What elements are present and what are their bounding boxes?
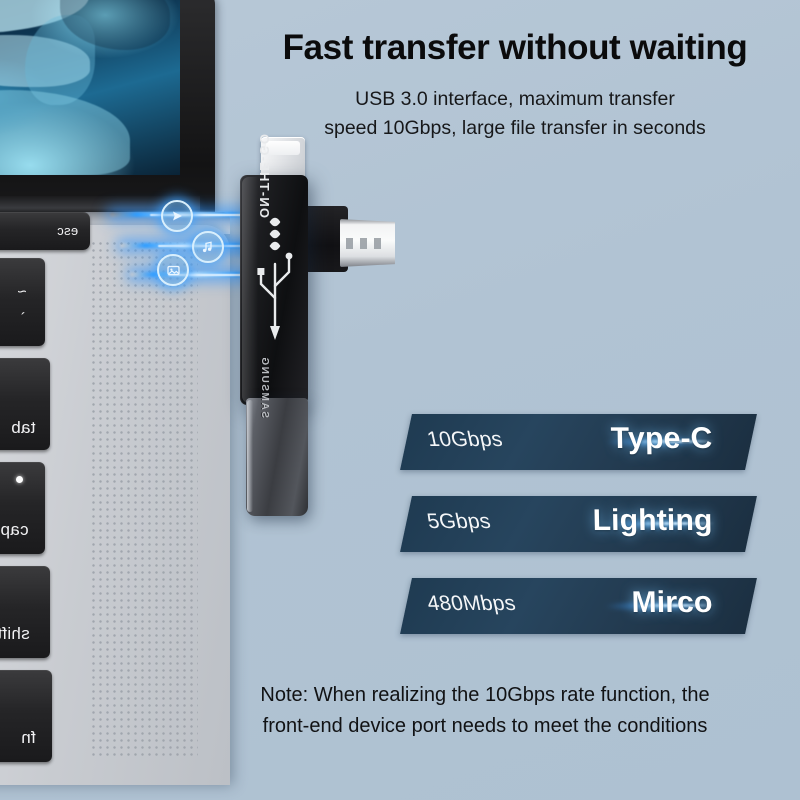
speed-badge-list: 10Gbps Type-C 5Gbps Lighting 480Mbps Mir… bbox=[406, 414, 766, 660]
port-type-label: Mirco bbox=[628, 586, 716, 620]
footnote: Note: When realizing the 10Gbps rate fun… bbox=[0, 680, 800, 742]
key-tab[interactable]: tab bbox=[0, 358, 50, 450]
speed-badge-content: 10Gbps Type-C bbox=[400, 414, 757, 470]
photo-icon bbox=[157, 254, 189, 286]
speed-badge-row: 5Gbps Lighting bbox=[406, 496, 766, 578]
usb-trident-icon bbox=[250, 205, 300, 350]
usb-c-highlight bbox=[247, 400, 253, 512]
subtitle-line-1: USB 3.0 interface, maximum transfer bbox=[230, 85, 800, 114]
adapter-otg-label: ON-THE-GO bbox=[257, 133, 272, 218]
key-caps-lock-label: caps lock bbox=[0, 520, 29, 540]
page-title: Fast transfer without waiting bbox=[0, 28, 800, 68]
speed-value: 5Gbps bbox=[425, 510, 493, 534]
speed-value: 480Mbps bbox=[425, 592, 518, 616]
speed-badge-content: 480Mbps Mirco bbox=[400, 578, 757, 634]
product-banner: esc ~ ` tab caps lock shift control fn bbox=[0, 0, 800, 800]
speed-badge-row: 480Mbps Mirco bbox=[406, 578, 766, 660]
footnote-line-2: front-end device port needs to meet the … bbox=[170, 711, 800, 742]
speed-badge-row: 10Gbps Type-C bbox=[406, 414, 766, 496]
key-backtick-label: ` bbox=[20, 310, 25, 327]
key-esc-label: esc bbox=[57, 223, 78, 238]
key-tilde[interactable]: ~ ` bbox=[0, 258, 45, 346]
port-type-label: Type-C bbox=[607, 422, 716, 456]
subtitle-line-2: speed 10Gbps, large file transfer in sec… bbox=[230, 114, 800, 143]
micro-usb-contacts bbox=[346, 238, 388, 249]
footnote-line-1: Note: When realizing the 10Gbps rate fun… bbox=[170, 680, 800, 711]
send-icon bbox=[161, 200, 193, 232]
usb-c-connector bbox=[246, 398, 308, 516]
key-tilde-label: ~ bbox=[17, 284, 27, 302]
speed-badge-content: 5Gbps Lighting bbox=[400, 496, 757, 552]
brand-label: SAMSUNG bbox=[259, 356, 270, 418]
key-tab-label: tab bbox=[11, 418, 36, 438]
key-caps-lock[interactable]: caps lock bbox=[0, 462, 45, 554]
speed-value: 10Gbps bbox=[425, 428, 505, 452]
caps-lock-indicator bbox=[16, 476, 23, 483]
key-shift-label: shift bbox=[0, 624, 30, 644]
port-type-label: Lighting bbox=[589, 504, 716, 538]
key-shift[interactable]: shift bbox=[0, 566, 50, 658]
key-esc[interactable]: esc bbox=[0, 212, 90, 250]
subtitle: USB 3.0 interface, maximum transfer spee… bbox=[0, 85, 800, 143]
